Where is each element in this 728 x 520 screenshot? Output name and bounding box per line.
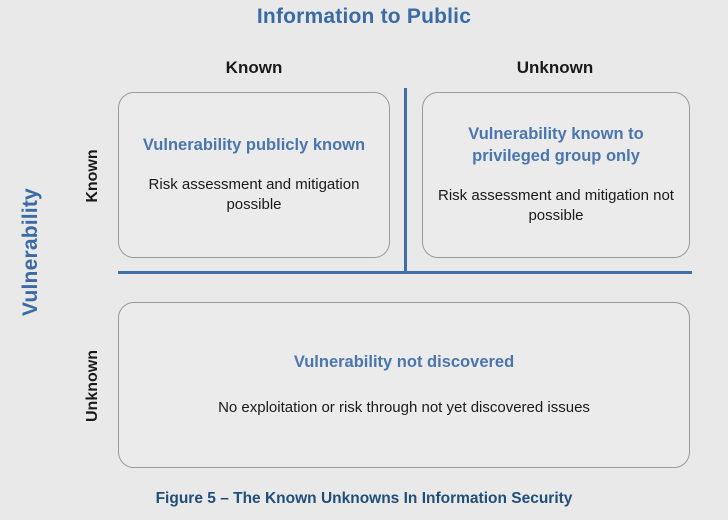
quadrant-known-known: Vulnerability publicly known Risk assess… — [118, 92, 390, 258]
horizontal-divider-line — [118, 271, 692, 274]
quadrant-body: Risk assessment and mitigation possible — [119, 175, 389, 216]
column-header-known: Known — [118, 58, 390, 78]
column-header-unknown: Unknown — [420, 58, 690, 78]
row-header-unknown: Unknown — [84, 315, 102, 457]
vertical-divider-line — [404, 88, 407, 274]
quadrant-unknown-row: Vulnerability not discovered No exploita… — [118, 302, 690, 468]
quadrant-body: Risk assessment and mitigation not possi… — [423, 186, 689, 227]
row-header-known: Known — [84, 120, 102, 232]
quadrant-known-unknown: Vulnerability known to privileged group … — [422, 92, 690, 258]
top-axis-title: Information to Public — [0, 5, 728, 29]
left-axis-title: Vulnerability — [19, 159, 43, 345]
quadrant-heading: Vulnerability publicly known — [133, 135, 375, 157]
quadrant-heading: Vulnerability not discovered — [284, 352, 524, 374]
figure-caption: Figure 5 – The Known Unknowns In Informa… — [0, 490, 728, 508]
quadrant-diagram: Information to Public Known Unknown Vuln… — [0, 0, 728, 520]
quadrant-body: No exploitation or risk through not yet … — [208, 398, 600, 418]
quadrant-heading: Vulnerability known to privileged group … — [423, 124, 689, 168]
